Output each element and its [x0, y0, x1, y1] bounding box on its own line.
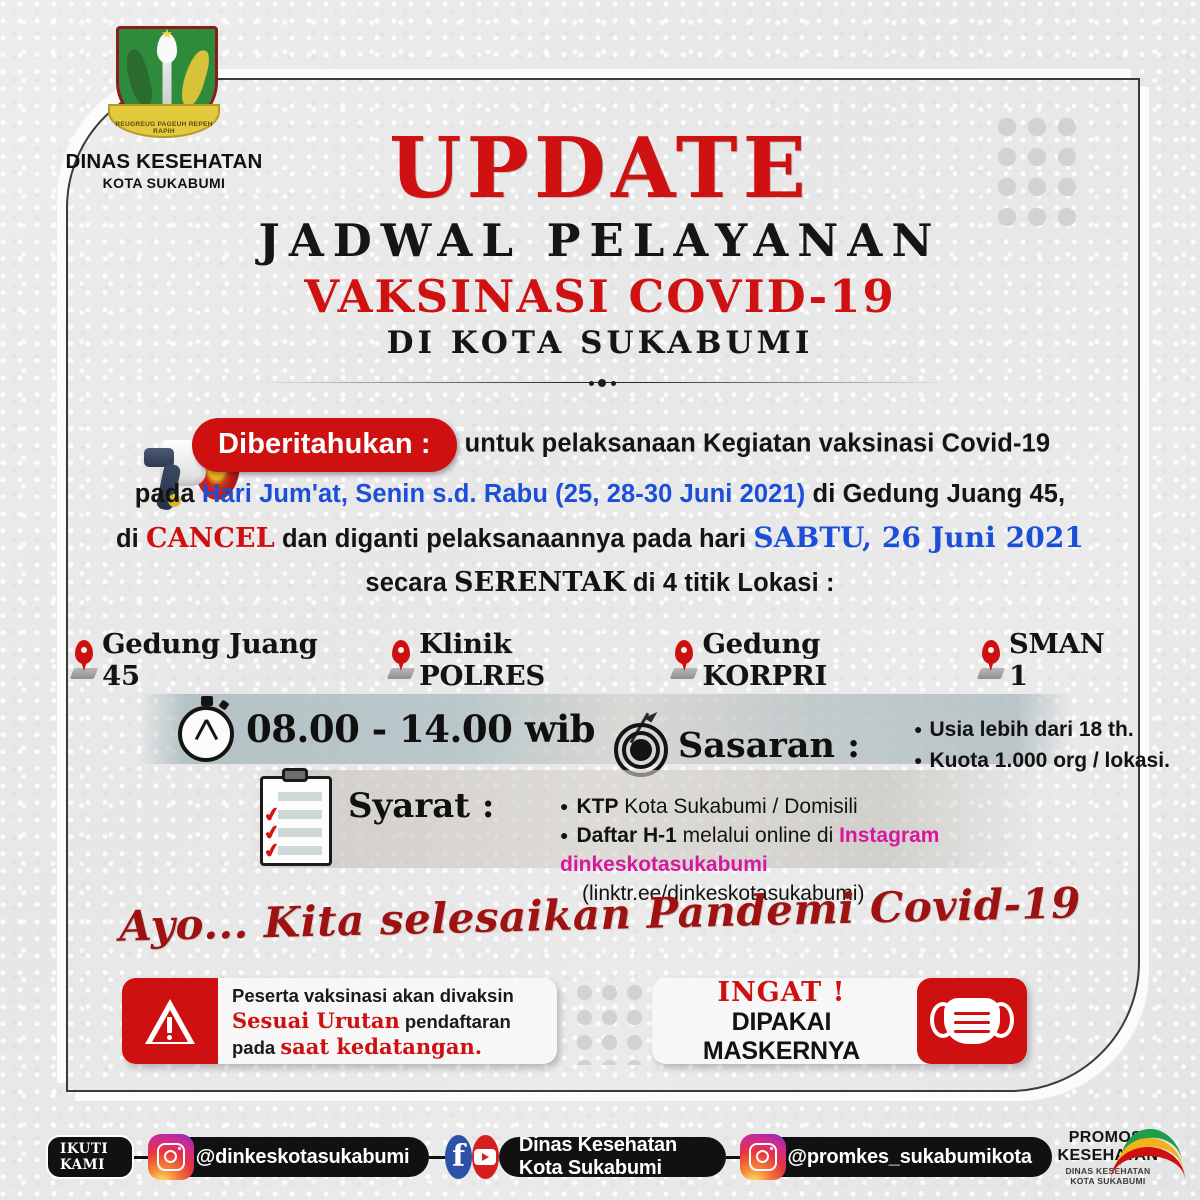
announcement-line4-pre: secara	[365, 569, 454, 597]
map-pin-icon	[672, 640, 695, 680]
instagram-icon	[148, 1134, 194, 1180]
map-pin-icon	[72, 640, 95, 680]
fb-yt-account-name: Dinas Kesehatan Kota Sukabumi	[519, 1134, 706, 1180]
warning-triangle-icon	[122, 978, 218, 1064]
location-item: Gedung KORPRI	[672, 628, 944, 692]
title-jadwal-pelayanan: JADWAL PELAYANAN	[0, 213, 1200, 269]
syarat-label: Syarat :	[348, 786, 494, 826]
clipboard-icon: ✔✔✔	[252, 768, 336, 868]
instagram-dinkes-pill[interactable]: @dinkeskotasukabumi	[150, 1137, 430, 1177]
syarat-item-ktp: KTP Kota Sukabumi / Domisili	[560, 792, 1080, 821]
poster-canvas: ★ REUGREUG PAGEUH REPEH RAPIH DINAS KESE…	[0, 0, 1200, 1200]
location-item: Gedung Juang 45	[72, 628, 355, 692]
instagram-promkes-handle: @promkes_sukabumikota	[788, 1146, 1032, 1169]
warning-line2-rest: pendaftaran	[400, 1011, 511, 1032]
location-label: Gedung KORPRI	[702, 628, 944, 692]
sasaran-label: Sasaran :	[678, 725, 860, 766]
location-label: Klinik POLRES	[419, 628, 638, 692]
announcement-line1-rest: untuk pelaksanaan Kegiatan vaksinasi Cov…	[465, 430, 1051, 458]
announcement-line3-mid: dan diganti pelaksanaannya pada hari	[275, 525, 754, 553]
syarat-item-daftar: Daftar H-1 melalui online di Instagram d…	[560, 821, 1080, 879]
sasaran-item: Usia lebih dari 18 th.	[914, 714, 1170, 745]
stopwatch-icon	[178, 696, 236, 762]
announcement-line2-pre: pada	[135, 480, 202, 508]
location-label: Gedung Juang 45	[102, 628, 355, 692]
time-group: 08.00 - 14.00 wib	[178, 696, 595, 762]
warning-sesuai-urutan: Sesuai Urutan	[232, 1008, 400, 1033]
title-vaksinasi-covid19: VAKSINASI COVID-19	[0, 272, 1200, 322]
announcement-block: Diberitahukan :untuk pelaksanaan Kegiata…	[72, 418, 1128, 605]
announcement-dates: Hari Jum'at, Senin s.d. Rabu (25, 28-30 …	[202, 480, 805, 508]
diberitahukan-badge: Diberitahukan :	[192, 418, 457, 472]
announcement-line2-post: di Gedung Juang 45,	[805, 480, 1065, 508]
promkes-logo: PROMOSI KESEHATAN DINAS KESEHATAN KOTA S…	[1052, 1129, 1164, 1186]
syarat-item1-rest: Kota Sukabumi / Domisili	[618, 795, 857, 818]
target-dartboard-icon	[612, 713, 672, 777]
title-block: UPDATE JADWAL PELAYANAN VAKSINASI COVID-…	[0, 128, 1200, 362]
sukabumi-crest-icon: ★ REUGREUG PAGEUH REPEH RAPIH	[108, 26, 220, 144]
fb-yt-name-pill[interactable]: Dinas Kesehatan Kota Sukabumi	[499, 1137, 726, 1177]
title-update: UPDATE	[0, 128, 1200, 209]
locations-row: Gedung Juang 45 Klinik POLRES Gedung KOR…	[72, 628, 1128, 692]
instagram-promkes-pill[interactable]: @promkes_sukabumikota	[742, 1137, 1052, 1177]
facebook-icon[interactable]: f	[445, 1135, 472, 1179]
queue-warning-box: Peserta vaksinasi akan divaksin Sesuai U…	[122, 978, 557, 1064]
mask-reminder-box: INGAT ! DIPAKAI MASKERNYA	[652, 978, 1027, 1064]
warning-saat-kedatangan: saat kedatangan.	[280, 1034, 482, 1059]
syarat-item2-mid: melalui online di	[677, 824, 839, 847]
service-hours: 08.00 - 14.00 wib	[246, 707, 595, 751]
mask-ingat-label: INGAT !	[652, 978, 911, 1008]
announcement-serentak: SERENTAK	[454, 567, 626, 598]
warning-line3-pre: pada	[232, 1037, 280, 1058]
syarat-item1-bold: KTP	[576, 795, 618, 818]
announcement-line4-post: Lokasi :	[730, 569, 834, 597]
map-pin-icon	[979, 640, 1002, 680]
follow-us-badge: IKUTI KAMI	[46, 1135, 134, 1179]
announcement-new-date: SABTU, 26 Juni 2021	[753, 521, 1084, 554]
announcement-titik-count: 4 titik	[663, 569, 730, 597]
location-label: SMAN 1	[1009, 628, 1128, 692]
dot-grid-middle	[572, 980, 647, 1065]
face-mask-icon	[917, 978, 1027, 1064]
sasaran-list: Usia lebih dari 18 th. Kuota 1.000 org /…	[874, 714, 1170, 776]
title-divider	[252, 378, 952, 388]
announcement-line4-mid: di	[626, 569, 663, 597]
location-item: SMAN 1	[979, 628, 1128, 692]
footer-connector	[429, 1156, 445, 1159]
mask-dipakai-label: DIPAKAI MASKERNYA	[652, 1008, 911, 1065]
warning-line1: Peserta vaksinasi akan divaksin	[232, 983, 514, 1008]
syarat-item2-bold: Daftar H-1	[576, 824, 676, 847]
instagram-icon	[740, 1134, 786, 1180]
announcement-cancel: CANCEL	[146, 523, 275, 554]
social-footer: IKUTI KAMI @dinkeskotasukabumi f Dinas K…	[0, 1128, 1200, 1186]
announcement-line3-pre: di	[116, 525, 146, 553]
map-pin-icon	[389, 640, 412, 680]
instagram-dinkes-handle: @dinkeskotasukabumi	[196, 1146, 410, 1169]
location-item: Klinik POLRES	[389, 628, 638, 692]
youtube-icon[interactable]	[472, 1135, 499, 1179]
title-di-kota-sukabumi: DI KOTA SUKABUMI	[0, 325, 1200, 362]
